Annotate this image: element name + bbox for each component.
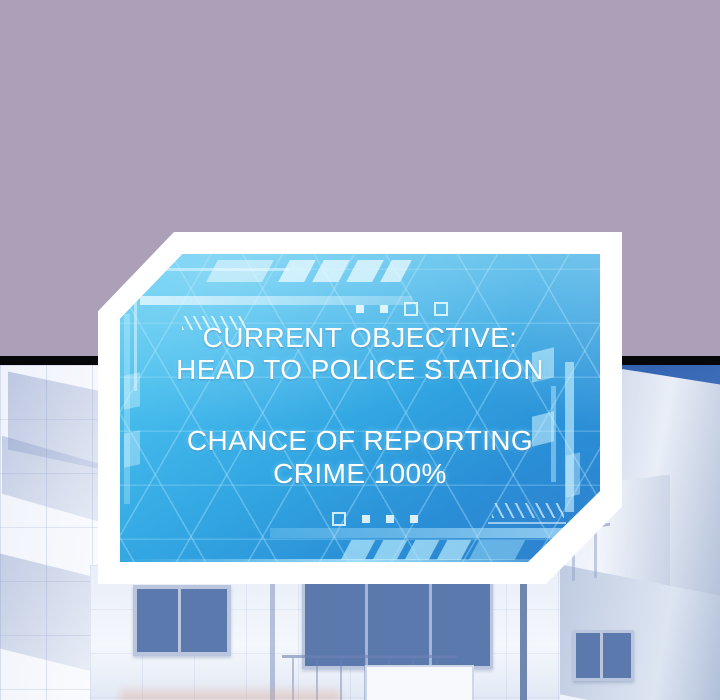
marker-filled-icon <box>410 515 418 523</box>
lamp-post <box>270 580 275 700</box>
marker-outline-icon <box>434 302 448 316</box>
warm-ground-tint <box>120 685 340 700</box>
marker-filled-icon <box>380 305 388 313</box>
window-right <box>573 630 634 681</box>
rhombus-accent-1 <box>532 347 554 382</box>
left-accent-1 <box>124 372 140 409</box>
objective-hud-panel[interactable]: CURRENT OBJECTIVE: HEAD TO POLICE STATIO… <box>98 232 622 584</box>
hatch-marks-bottom-right-icon <box>492 503 564 518</box>
footer-bar-decoration <box>270 528 570 538</box>
screenshot-stage: CURRENT OBJECTIVE: HEAD TO POLICE STATIO… <box>0 0 720 700</box>
white-box <box>365 665 474 700</box>
left-accent-2 <box>124 430 140 467</box>
marker-outline-icon <box>332 512 346 526</box>
rhombus-accent-3 <box>566 452 580 497</box>
bottom-glow-line <box>120 559 600 562</box>
marker-outline-icon <box>404 302 418 316</box>
status-markers-top <box>356 302 448 316</box>
marker-filled-icon <box>386 515 394 523</box>
hatch-marks-top-left-icon <box>182 316 246 330</box>
rhombus-accent-2 <box>532 411 554 446</box>
window-left <box>133 585 231 656</box>
diagonal-stripes-top <box>212 260 422 282</box>
hud-body <box>120 254 600 562</box>
marker-filled-icon <box>362 515 370 523</box>
marker-filled-icon <box>356 305 364 313</box>
status-markers-bottom <box>332 512 418 526</box>
